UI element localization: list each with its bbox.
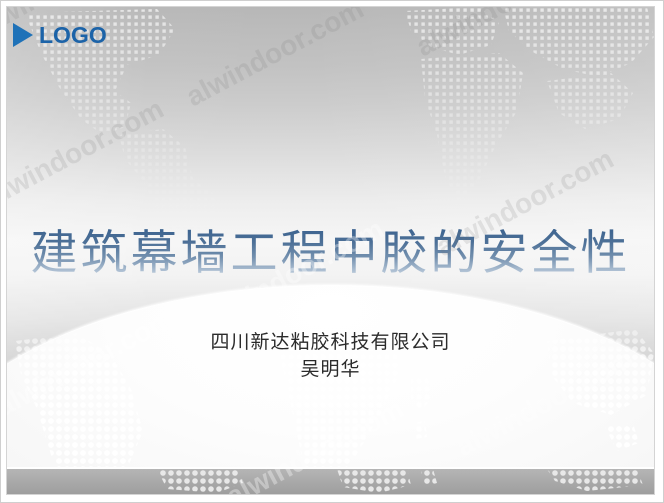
- page-title: 建筑幕墙工程中胶的安全性: [7, 229, 654, 280]
- watermark-text: alwindoor.com: [7, 93, 169, 213]
- watermark-text: alwindoor.com: [181, 7, 369, 113]
- footer-map-dots: [7, 469, 654, 494]
- subtitle-company: 四川新达粘胶科技有限公司: [7, 329, 654, 356]
- logo-label: LOGO: [39, 24, 107, 47]
- globe-shape: [7, 285, 654, 494]
- globe-edge-highlight: [7, 285, 654, 494]
- slide-frame: LOGO 建筑幕墙工程中胶的安全性 四川新达粘胶科技有限公司 吴明华: [0, 0, 664, 503]
- slide-footer-band: [7, 467, 654, 494]
- play-triangle-icon: [13, 23, 33, 47]
- logo[interactable]: LOGO: [13, 23, 107, 47]
- subtitle-author: 吴明华: [7, 356, 654, 383]
- watermark-text: alwindoor.com: [411, 7, 599, 63]
- subtitle-block: 四川新达粘胶科技有限公司 吴明华: [7, 329, 654, 383]
- presentation-slide: LOGO 建筑幕墙工程中胶的安全性 四川新达粘胶科技有限公司 吴明华: [7, 7, 654, 494]
